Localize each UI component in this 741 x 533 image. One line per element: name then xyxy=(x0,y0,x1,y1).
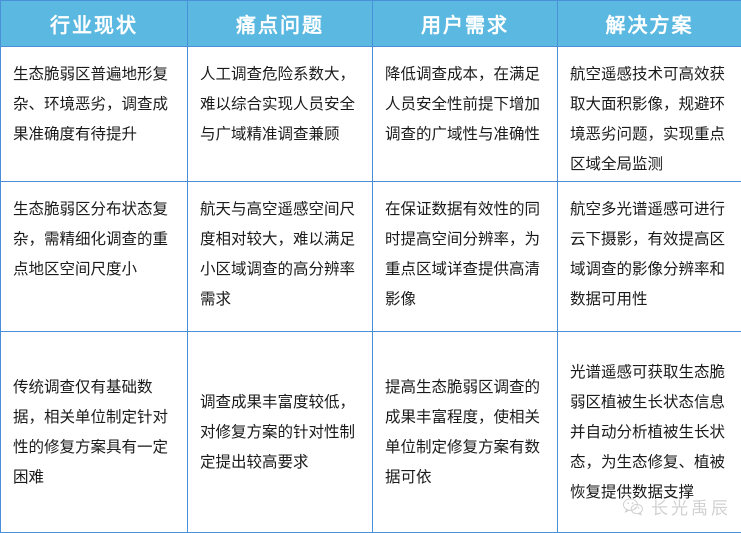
cell-solution: 航空遥感技术可高效获取大面积影像，规避环境恶劣问题，实现重点区域全局监测 xyxy=(558,47,741,182)
column-header-pain-point: 痛点问题 xyxy=(188,1,373,47)
cell-user-demand: 在保证数据有效性的同时提高空间分辨率，为重点区域详查提供高清影像 xyxy=(373,182,558,332)
table-row: 生态脆弱区分布状态复杂，需精细化调查的重点地区空间尺度小 航天与高空遥感空间尺度… xyxy=(1,182,741,332)
table-body: 生态脆弱区普遍地形复杂、环境恶劣，调查成果准确度有待提升 人工调查危险系数大，难… xyxy=(1,47,741,533)
cell-pain-point: 调查成果丰富度较低，对修复方案的针对性制定提出较高要求 xyxy=(188,332,373,533)
cell-industry-status: 生态脆弱区分布状态复杂，需精细化调查的重点地区空间尺度小 xyxy=(1,182,188,332)
cell-industry-status: 传统调查仅有基础数据，相关单位制定针对性的修复方案具有一定困难 xyxy=(1,332,188,533)
table-row: 传统调查仅有基础数据，相关单位制定针对性的修复方案具有一定困难 调查成果丰富度较… xyxy=(1,332,741,533)
column-header-industry-status: 行业现状 xyxy=(1,1,188,47)
table-header-row: 行业现状 痛点问题 用户需求 解决方案 xyxy=(1,1,741,47)
comparison-table-container: 行业现状 痛点问题 用户需求 解决方案 生态脆弱区普遍地形复杂、环境恶劣，调查成… xyxy=(0,0,741,531)
cell-pain-point: 人工调查危险系数大，难以综合实现人员安全与广域精准调查兼顾 xyxy=(188,47,373,182)
cell-solution: 航空多光谱遥感可进行云下摄影，有效提高区域调查的影像分辨率和数据可用性 xyxy=(558,182,741,332)
column-header-solution: 解决方案 xyxy=(558,1,741,47)
cell-user-demand: 降低调查成本，在满足人员安全性前提下增加调查的广域性与准确性 xyxy=(373,47,558,182)
table-header: 行业现状 痛点问题 用户需求 解决方案 xyxy=(1,1,741,47)
comparison-table: 行业现状 痛点问题 用户需求 解决方案 生态脆弱区普遍地形复杂、环境恶劣，调查成… xyxy=(0,0,741,533)
column-header-user-demand: 用户需求 xyxy=(373,1,558,47)
cell-user-demand: 提高生态脆弱区调查的成果丰富程度，使相关单位制定修复方案有数据可依 xyxy=(373,332,558,533)
cell-industry-status: 生态脆弱区普遍地形复杂、环境恶劣，调查成果准确度有待提升 xyxy=(1,47,188,182)
cell-pain-point: 航天与高空遥感空间尺度相对较大，难以满足小区域调查的高分辨率需求 xyxy=(188,182,373,332)
cell-solution: 光谱遥感可获取生态脆弱区植被生长状态信息并自动分析植被生长状态，为生态修复、植被… xyxy=(558,332,741,533)
table-row: 生态脆弱区普遍地形复杂、环境恶劣，调查成果准确度有待提升 人工调查危险系数大，难… xyxy=(1,47,741,182)
